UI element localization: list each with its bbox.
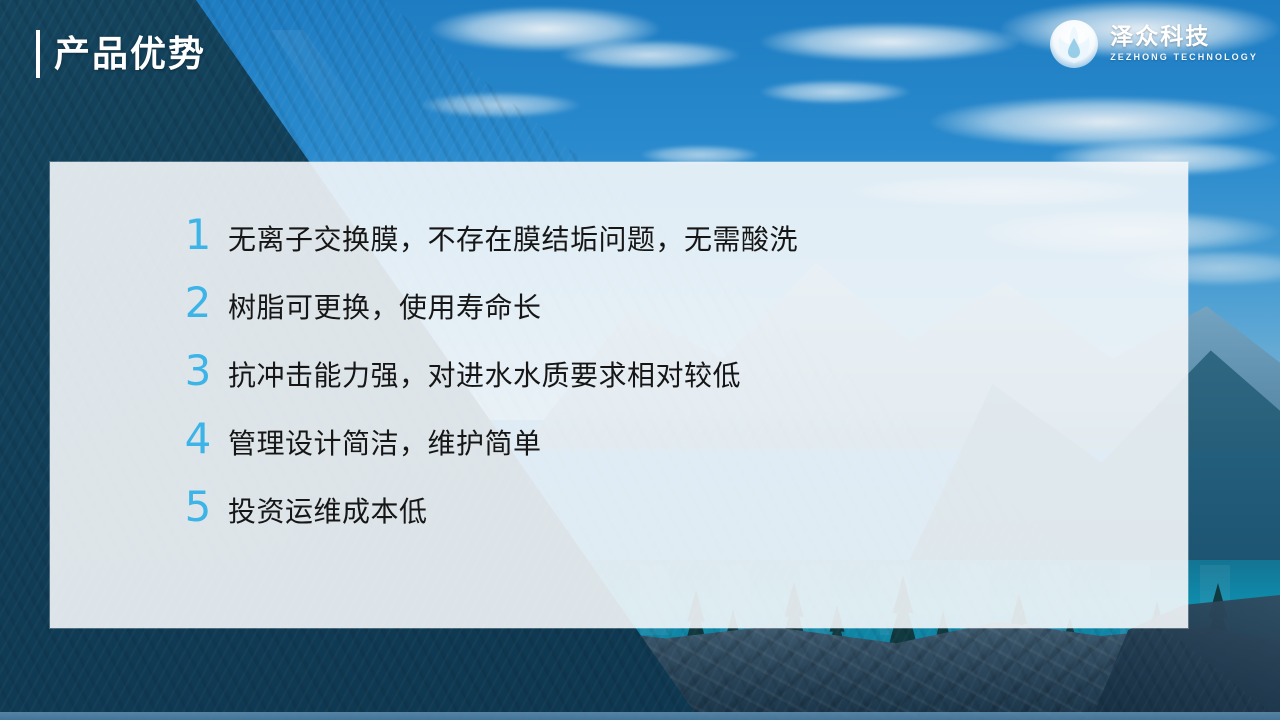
item-text: 树脂可更换，使用寿命长 — [228, 294, 542, 322]
content-panel: 1 无离子交换膜，不存在膜结垢问题，无需酸洗 2 树脂可更换，使用寿命长 3 抗… — [50, 162, 1188, 628]
lotus-droplet-icon — [1048, 18, 1100, 70]
brand-name-en: ZEZHONG TECHNOLOGY — [1110, 52, 1258, 64]
brand-name-cn: 泽众科技 — [1110, 24, 1258, 50]
slide-header: 产品优势 泽众科技 ZEZHONG TECHNOLOGY — [0, 0, 1280, 110]
item-text: 投资运维成本低 — [228, 498, 428, 526]
page-title: 产品优势 — [36, 30, 206, 78]
title-accent-bar — [36, 30, 40, 78]
item-text: 抗冲击能力强，对进水水质要求相对较低 — [228, 362, 741, 390]
list-item: 1 无离子交换膜，不存在膜结垢问题，无需酸洗 — [180, 214, 1148, 282]
list-item: 4 管理设计简洁，维护简单 — [180, 418, 1148, 486]
list-item: 3 抗冲击能力强，对进水水质要求相对较低 — [180, 350, 1148, 418]
item-text: 管理设计简洁，维护简单 — [228, 430, 542, 458]
list-item: 2 树脂可更换，使用寿命长 — [180, 282, 1148, 350]
list-item: 5 投资运维成本低 — [180, 486, 1148, 554]
title-label: 产品优势 — [54, 36, 206, 72]
item-number: 5 — [180, 486, 216, 528]
item-number: 3 — [180, 350, 216, 392]
bottom-accent-band — [0, 712, 1280, 720]
advantages-list: 1 无离子交换膜，不存在膜结垢问题，无需酸洗 2 树脂可更换，使用寿命长 3 抗… — [180, 214, 1148, 554]
item-number: 1 — [180, 214, 216, 256]
item-number: 4 — [180, 418, 216, 460]
item-number: 2 — [180, 282, 216, 324]
slide: 产品优势 泽众科技 ZEZHONG TECHNOLOGY — [0, 0, 1280, 720]
item-text: 无离子交换膜，不存在膜结垢问题，无需酸洗 — [228, 226, 798, 254]
brand-logo: 泽众科技 ZEZHONG TECHNOLOGY — [1048, 18, 1258, 70]
